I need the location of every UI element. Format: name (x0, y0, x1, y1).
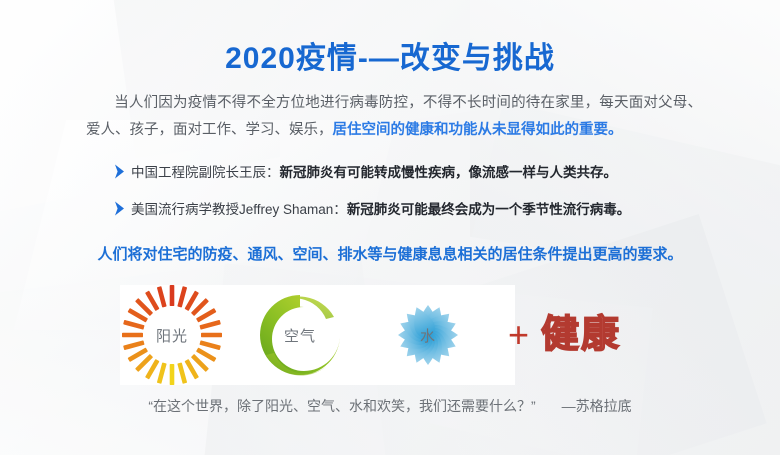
chevron-right-icon (113, 200, 128, 217)
bullet-statement-1: 新冠肺炎可能最终会成为一个季节性流行病毒。 (347, 202, 631, 217)
water-icon: 水 (376, 283, 480, 387)
emphasis-statement: 人们将对住宅的防疫、通风、空间、排水等与健康息息相关的居住条件提出更高的要求。 (0, 243, 780, 264)
list-item: 美国流行病学教授Jeffrey Shaman：新冠肺炎可能最终会成为一个季节性流… (113, 194, 630, 222)
bullet-statement-0: 新冠肺炎有可能转成慢性疾病，像流感一样与人类共存。 (280, 165, 618, 180)
plus-icon: + (508, 317, 529, 353)
list-item-text: 中国工程院副院长王辰：新冠肺炎有可能转成慢性疾病，像流感一样与人类共存。 (131, 161, 617, 181)
quote-text: “在这个世界，除了阳光、空气、水和欢笑，我们还需要什么？” (148, 398, 535, 414)
list-item-text: 美国流行病学教授Jeffrey Shaman：新冠肺炎可能最终会成为一个季节性流… (131, 198, 630, 218)
bullet-source-0: 中国工程院副院长王辰： (131, 165, 280, 180)
quote-bullet-list: 中国工程院副院长王辰：新冠肺炎有可能转成慢性疾病，像流感一样与人类共存。 美国流… (113, 157, 630, 231)
sunlight-icon: 阳光 (120, 283, 224, 387)
element-icon-row: 阳光 空气 (120, 282, 680, 388)
slide-canvas: 2020疫情-—改变与挑战 当人们因为疫情不得不全方位地进行病毒防控，不得不长时… (0, 0, 780, 455)
sunlight-icon-label: 阳光 (156, 325, 188, 346)
list-item: 中国工程院副院长王辰：新冠肺炎有可能转成慢性疾病，像流感一样与人类共存。 (113, 157, 630, 185)
quote-author: —苏格拉底 (562, 398, 632, 414)
footer-quote: “在这个世界，除了阳光、空气、水和欢笑，我们还需要什么？”—苏格拉底 (0, 396, 780, 416)
health-result-text: 健康 (541, 316, 621, 354)
air-icon-label: 空气 (284, 325, 316, 346)
air-icon: 空气 (248, 283, 352, 387)
slide-title: 2020疫情-—改变与挑战 (0, 33, 780, 77)
chevron-right-icon (113, 163, 128, 180)
intro-paragraph: 当人们因为疫情不得不全方位地进行病毒防控，不得不长时间的待在家里，每天面对父母、… (86, 90, 702, 144)
water-icon-label: 水 (420, 325, 436, 346)
paragraph-highlight-text: 居住空间的健康和功能从未显得如此的重要。 (333, 122, 623, 138)
bullet-source-1: 美国流行病学教授Jeffrey Shaman： (131, 202, 347, 217)
